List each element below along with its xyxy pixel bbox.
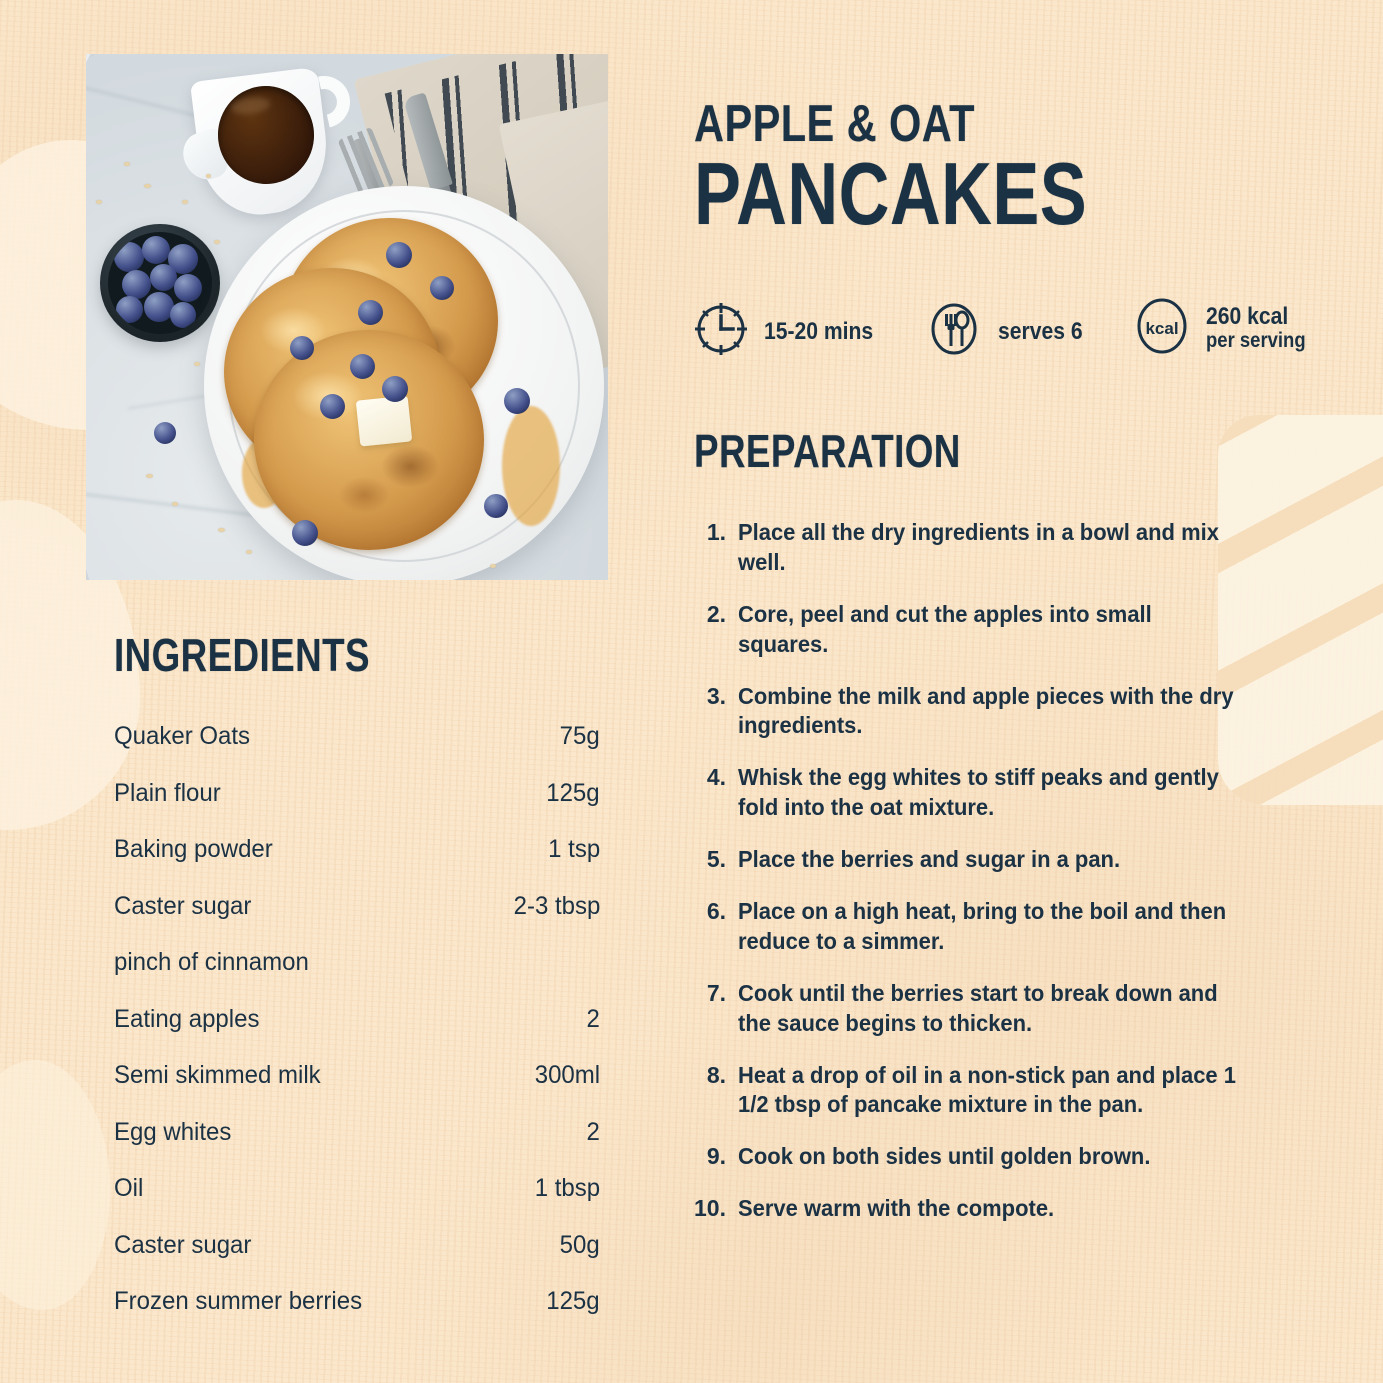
badge-calories-label: 260 kcal per serving bbox=[1206, 304, 1306, 353]
badge-calories: kcal 260 kcal per serving bbox=[1132, 295, 1319, 362]
blueberry bbox=[292, 520, 318, 546]
ingredient-name: Semi skimmed milk bbox=[114, 1061, 321, 1090]
preparation-step-text: Place all the dry ingredients in a bowl … bbox=[738, 518, 1246, 578]
ingredient-name: Caster sugar bbox=[114, 892, 251, 921]
ingredient-quantity: 300ml bbox=[535, 1061, 600, 1090]
preparation-step-text: Whisk the egg whites to stiff peaks and … bbox=[738, 763, 1246, 823]
preparation-step: 4.Whisk the egg whites to stiff peaks an… bbox=[692, 763, 1270, 823]
preparation-step-text: Cook on both sides until golden brown. bbox=[738, 1142, 1150, 1172]
recipe-card: APPLE & OAT PANCAKES 15-20 bbox=[0, 0, 1383, 1383]
ingredient-quantity: 125g bbox=[547, 1287, 600, 1316]
badge-servings: serves 6 bbox=[926, 300, 1094, 363]
blueberry bbox=[430, 276, 454, 300]
preparation-step-text: Heat a drop of oil in a non-stick pan an… bbox=[738, 1061, 1246, 1121]
badge-prep-time-label: 15-20 mins bbox=[764, 319, 873, 345]
ingredient-quantity: 50g bbox=[560, 1231, 600, 1260]
ingredient-row: Caster sugar2-3 tbsp bbox=[114, 892, 600, 949]
preparation-step-number: 1. bbox=[692, 518, 738, 578]
blueberry-bowl bbox=[100, 224, 220, 342]
ingredient-name: Caster sugar bbox=[114, 1231, 251, 1260]
preparation-step: 7.Cook until the berries start to break … bbox=[692, 979, 1270, 1039]
preparation-step: 6.Place on a high heat, bring to the boi… bbox=[692, 897, 1270, 957]
preparation-step: 1.Place all the dry ingredients in a bow… bbox=[692, 518, 1270, 578]
ingredient-name: Baking powder bbox=[114, 835, 273, 864]
preparation-step: 8.Heat a drop of oil in a non-stick pan … bbox=[692, 1061, 1270, 1121]
preparation-step-number: 8. bbox=[692, 1061, 738, 1121]
preparation-step-number: 6. bbox=[692, 897, 738, 957]
recipe-title-line2: PANCAKES bbox=[694, 150, 1087, 238]
ingredient-quantity: 125g bbox=[547, 779, 600, 808]
preparation-step: 5.Place the berries and sugar in a pan. bbox=[692, 845, 1270, 875]
ingredient-quantity: 1 tbsp bbox=[535, 1174, 600, 1203]
blueberry bbox=[358, 300, 383, 325]
preparation-step-text: Place the berries and sugar in a pan. bbox=[738, 845, 1120, 875]
preparation-step-number: 9. bbox=[692, 1142, 738, 1172]
preparation-step-number: 3. bbox=[692, 682, 738, 742]
ingredient-row: Caster sugar50g bbox=[114, 1231, 600, 1288]
blueberry bbox=[382, 376, 408, 402]
ingredient-quantity: 75g bbox=[560, 722, 600, 751]
preparation-steps: 1.Place all the dry ingredients in a bow… bbox=[692, 518, 1270, 1246]
preparation-heading: PREPARATION bbox=[694, 428, 961, 474]
ingredient-quantity: 1 tsp bbox=[548, 835, 600, 864]
preparation-step: 9.Cook on both sides until golden brown. bbox=[692, 1142, 1270, 1172]
preparation-step-number: 10. bbox=[692, 1194, 738, 1224]
blueberry bbox=[386, 242, 412, 268]
ingredient-name: pinch of cinnamon bbox=[114, 948, 309, 977]
ingredient-name: Eating apples bbox=[114, 1005, 259, 1034]
cutlery-icon bbox=[926, 300, 982, 363]
badge-servings-label: serves 6 bbox=[998, 319, 1083, 345]
ingredient-name: Quaker Oats bbox=[114, 722, 250, 751]
kcal-icon: kcal bbox=[1132, 295, 1192, 362]
ingredient-row: Plain flour125g bbox=[114, 779, 600, 836]
ingredient-row: Eating apples2 bbox=[114, 1005, 600, 1062]
badge-calories-sublabel: per serving bbox=[1206, 330, 1306, 353]
preparation-step-number: 5. bbox=[692, 845, 738, 875]
recipe-photo bbox=[86, 54, 608, 580]
ingredient-row: Semi skimmed milk300ml bbox=[114, 1061, 600, 1118]
preparation-step-number: 2. bbox=[692, 600, 738, 660]
blueberry bbox=[484, 494, 508, 518]
preparation-step-text: Core, peel and cut the apples into small… bbox=[738, 600, 1246, 660]
ingredients-list: Quaker Oats75gPlain flour125gBaking powd… bbox=[114, 722, 600, 1344]
ingredients-heading: INGREDIENTS bbox=[114, 632, 370, 678]
ingredient-row: Quaker Oats75g bbox=[114, 722, 600, 779]
ingredient-quantity: 2 bbox=[587, 1005, 600, 1034]
preparation-step: 10.Serve warm with the compote. bbox=[692, 1194, 1270, 1224]
recipe-title-line1: APPLE & OAT bbox=[694, 98, 975, 150]
blueberry bbox=[320, 394, 345, 419]
preparation-step: 2.Core, peel and cut the apples into sma… bbox=[692, 600, 1270, 660]
ingredient-quantity: 2 bbox=[587, 1118, 600, 1147]
blueberry bbox=[290, 336, 314, 360]
ingredient-quantity: 2-3 tbsp bbox=[513, 892, 600, 921]
decorative-blob-left-bottom bbox=[0, 1060, 110, 1310]
preparation-step-text: Combine the milk and apple pieces with t… bbox=[738, 682, 1246, 742]
preparation-step-text: Serve warm with the compote. bbox=[738, 1194, 1054, 1224]
ingredient-row: Frozen summer berries125g bbox=[114, 1287, 600, 1344]
preparation-step: 3.Combine the milk and apple pieces with… bbox=[692, 682, 1270, 742]
ingredient-name: Plain flour bbox=[114, 779, 221, 808]
recipe-meta-badges: 15-20 mins serves 6 bbox=[692, 296, 1332, 364]
svg-text:kcal: kcal bbox=[1145, 319, 1178, 338]
butter-pat bbox=[356, 395, 413, 446]
syrup-drizzle bbox=[502, 406, 560, 526]
blueberry-bowl-interior bbox=[108, 232, 212, 334]
clock-icon bbox=[692, 300, 750, 363]
badge-prep-time: 15-20 mins bbox=[692, 300, 888, 363]
preparation-step-text: Place on a high heat, bring to the boil … bbox=[738, 897, 1246, 957]
badge-calories-value: 260 kcal bbox=[1206, 303, 1288, 330]
ingredient-row: Oil1 tbsp bbox=[114, 1174, 600, 1231]
ingredient-name: Oil bbox=[114, 1174, 143, 1203]
preparation-step-number: 7. bbox=[692, 979, 738, 1039]
ingredient-name: Frozen summer berries bbox=[114, 1287, 362, 1316]
ingredient-row: Baking powder1 tsp bbox=[114, 835, 600, 892]
blueberry bbox=[350, 354, 375, 379]
preparation-step-text: Cook until the berries start to break do… bbox=[738, 979, 1246, 1039]
ingredient-row: Egg whites2 bbox=[114, 1118, 600, 1175]
blueberry bbox=[154, 422, 176, 444]
blueberry bbox=[504, 388, 530, 414]
preparation-step-number: 4. bbox=[692, 763, 738, 823]
ingredient-name: Egg whites bbox=[114, 1118, 231, 1147]
ingredient-row: pinch of cinnamon bbox=[114, 948, 600, 1005]
